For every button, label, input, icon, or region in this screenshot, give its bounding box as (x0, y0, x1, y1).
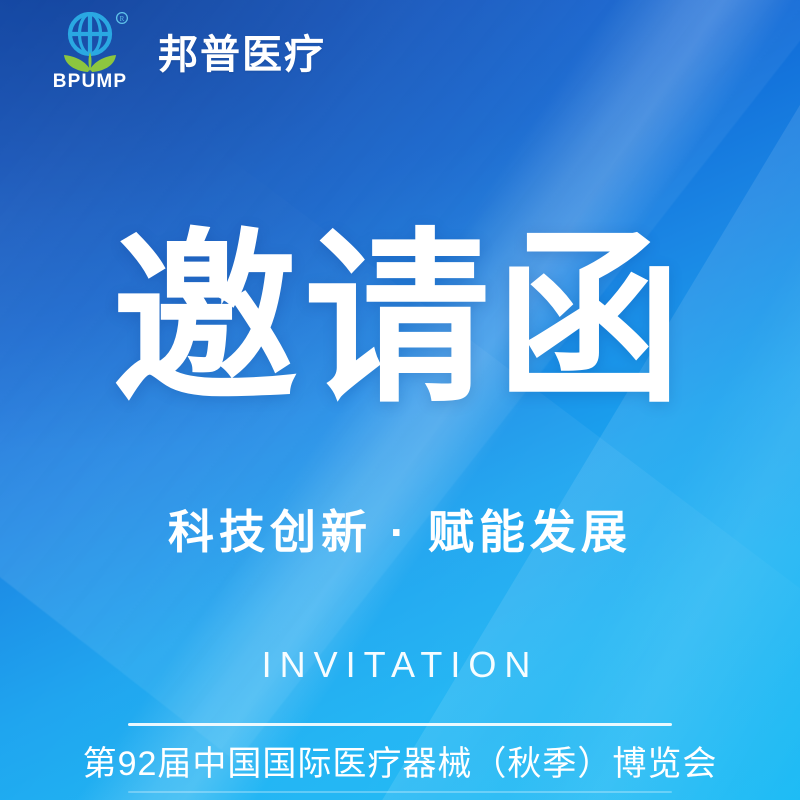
bpump-logo: R BPUMP (44, 12, 136, 94)
headline-invitation: 邀请函 (0, 228, 800, 414)
invitation-poster: R BPUMP 邦普医疗 邀请函 科技创新 · 赋能发展 INVITATION … (0, 0, 800, 800)
brand-header: R BPUMP 邦普医疗 (44, 12, 326, 94)
event-title: 第92届中国国际医疗器械（秋季）博览会 (0, 744, 800, 785)
eyebrow-invitation-latin: INVITATION (0, 645, 800, 685)
svg-text:R: R (120, 15, 125, 23)
poster-content: 邀请函 科技创新 · 赋能发展 INVITATION 第92届中国国际医疗器械（… (0, 0, 800, 800)
bpump-emblem-icon: R (44, 12, 136, 74)
bpump-wordmark: BPUMP (53, 72, 128, 91)
company-name: 邦普医疗 (158, 35, 326, 75)
divider-rule-lower (128, 791, 672, 793)
divider-rule (128, 723, 672, 726)
subheadline-slogan: 科技创新 · 赋能发展 (0, 505, 800, 560)
